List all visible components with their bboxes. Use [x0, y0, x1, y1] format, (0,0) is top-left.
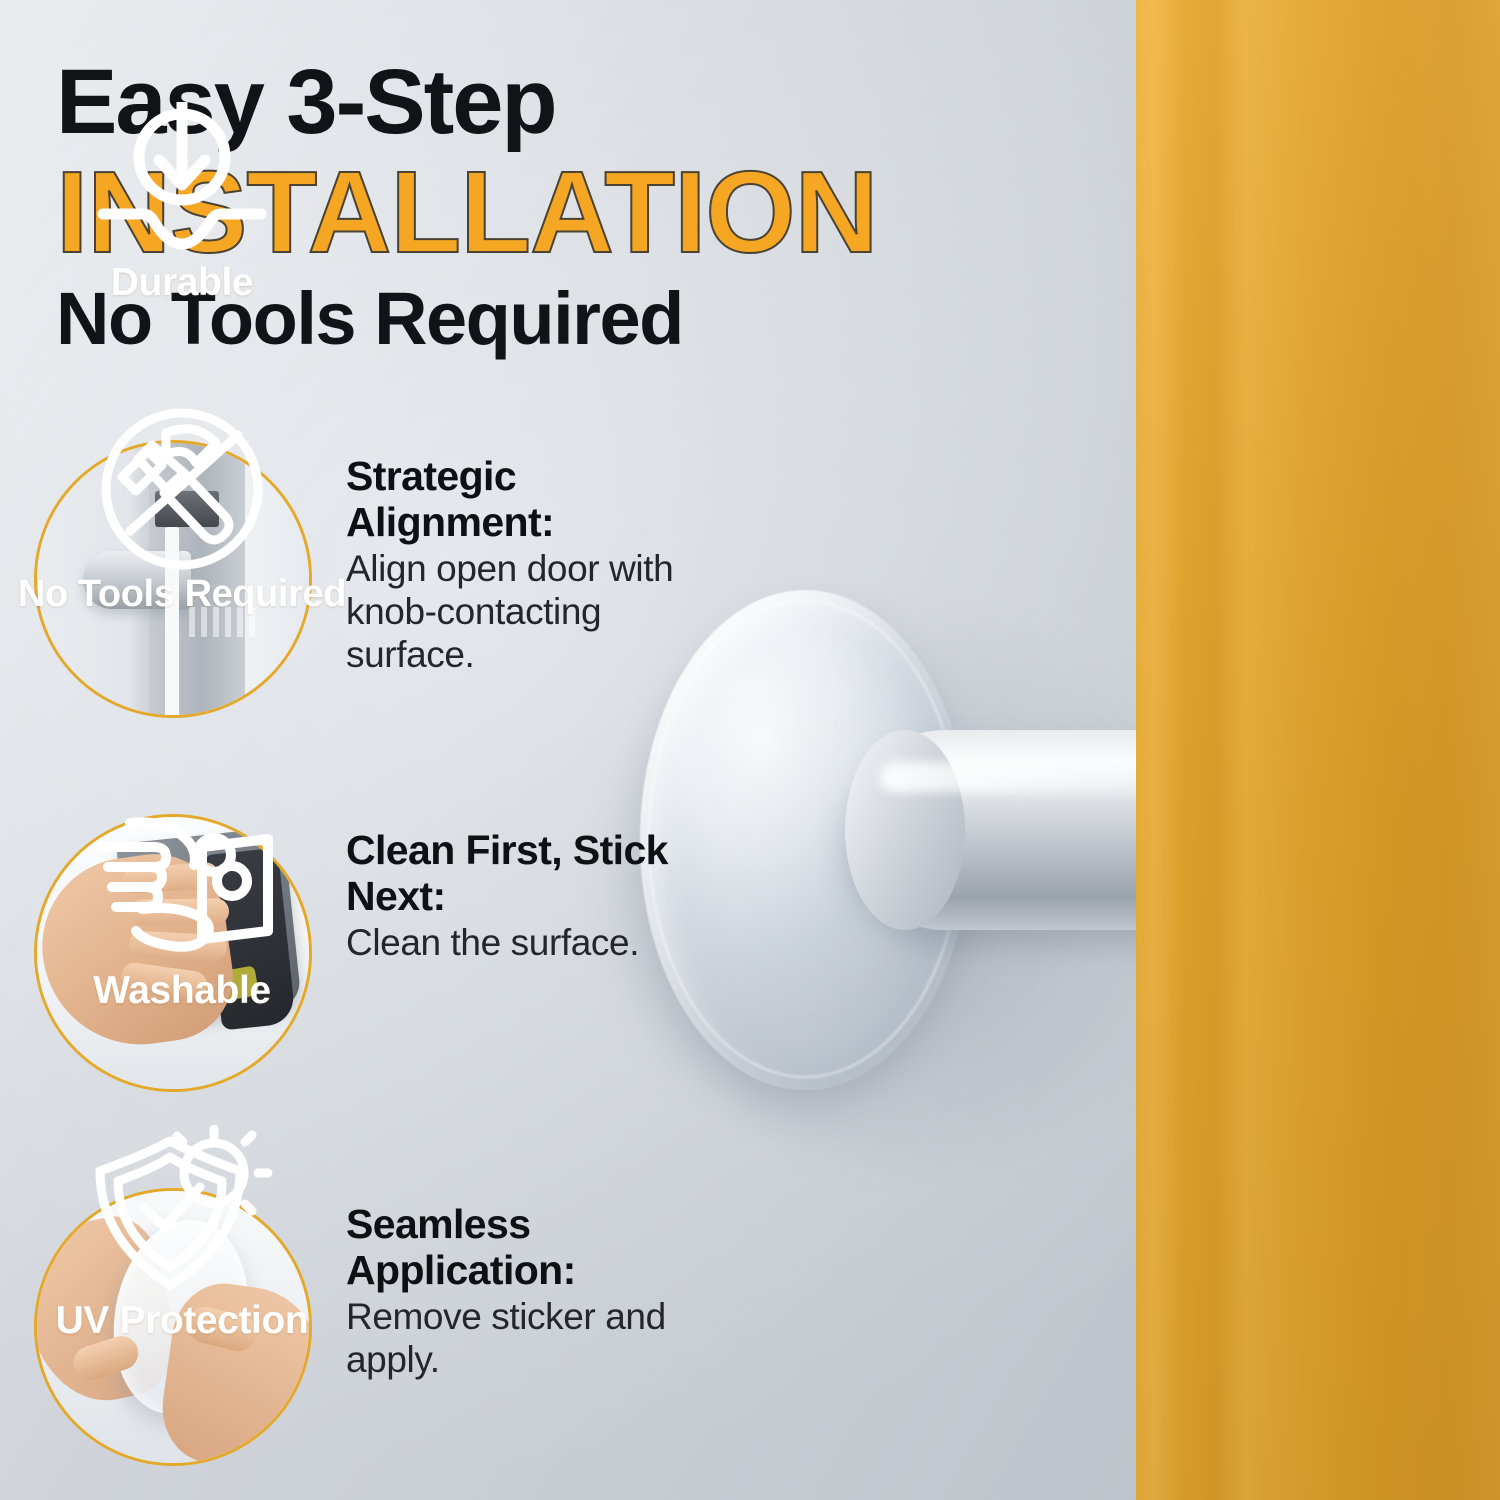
- feature-label: Durable: [0, 262, 364, 304]
- impact-absorb-icon: [0, 92, 364, 262]
- feature-rail: [1136, 0, 1500, 1500]
- feature-label: UV Protection: [0, 1300, 364, 1342]
- no-hammer-icon: [0, 404, 364, 574]
- step-text: Seamless Application: Remove sticker and…: [346, 1188, 676, 1382]
- feature-no-tools: No Tools Required: [0, 404, 364, 615]
- infographic-canvas: Easy 3-Step INSTALLATION No Tools Requir…: [0, 0, 1500, 1500]
- feature-label: Washable: [0, 970, 364, 1012]
- step-title: Clean First, Stick Next:: [346, 828, 676, 920]
- step-text: Strategic Alignment: Align open door wit…: [346, 440, 676, 677]
- step-description: Align open door with knob-contacting sur…: [346, 548, 676, 677]
- feature-durable: Durable: [0, 92, 364, 304]
- hand-wiping-icon: [0, 800, 364, 970]
- door-lever-highlight: [880, 762, 1160, 792]
- feature-label: No Tools Required: [0, 574, 364, 615]
- step-title: Strategic Alignment:: [346, 454, 676, 546]
- feature-washable: Washable: [0, 800, 364, 1012]
- door-lever-cap: [845, 730, 965, 930]
- step-description: Clean the surface.: [346, 922, 676, 965]
- feature-uv-protection: UV Protection: [0, 1130, 364, 1342]
- step-title: Seamless Application:: [346, 1202, 676, 1294]
- shield-sun-icon: [0, 1130, 364, 1300]
- step-description: Remove sticker and apply.: [346, 1296, 676, 1382]
- step-text: Clean First, Stick Next: Clean the surfa…: [346, 814, 676, 965]
